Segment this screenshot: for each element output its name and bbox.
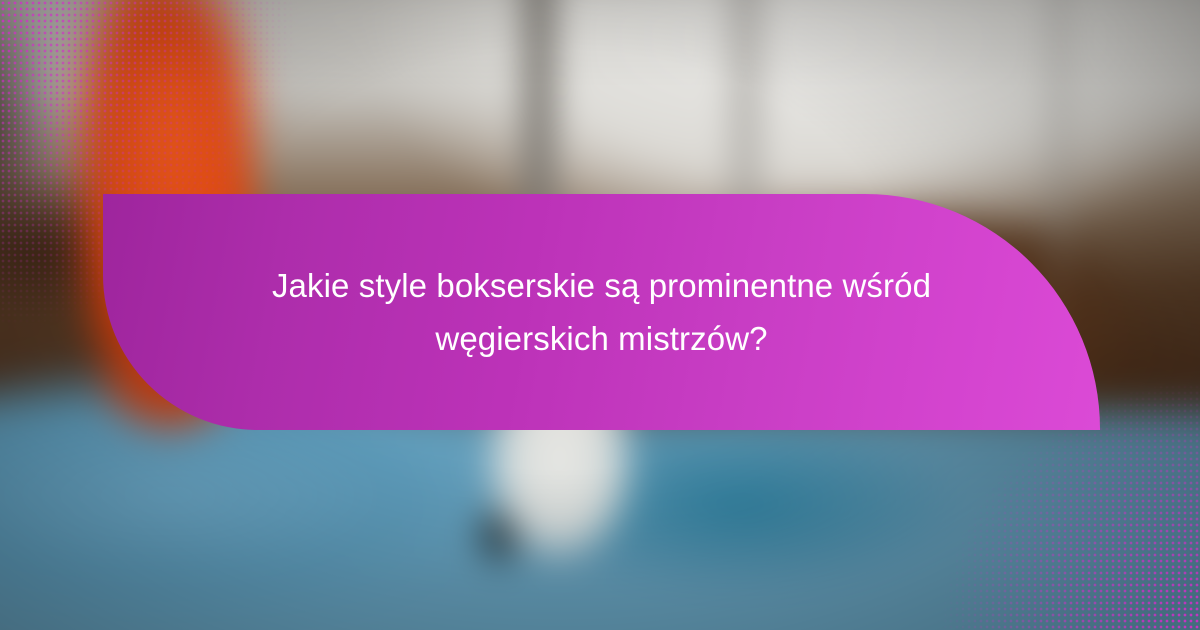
title-banner: Jakie style bokserskie są prominentne wś… — [103, 194, 1100, 430]
share-card-stage: Jakie style bokserskie są prominentne wś… — [0, 0, 1200, 630]
banner-title-text: Jakie style bokserskie są prominentne wś… — [223, 259, 980, 366]
